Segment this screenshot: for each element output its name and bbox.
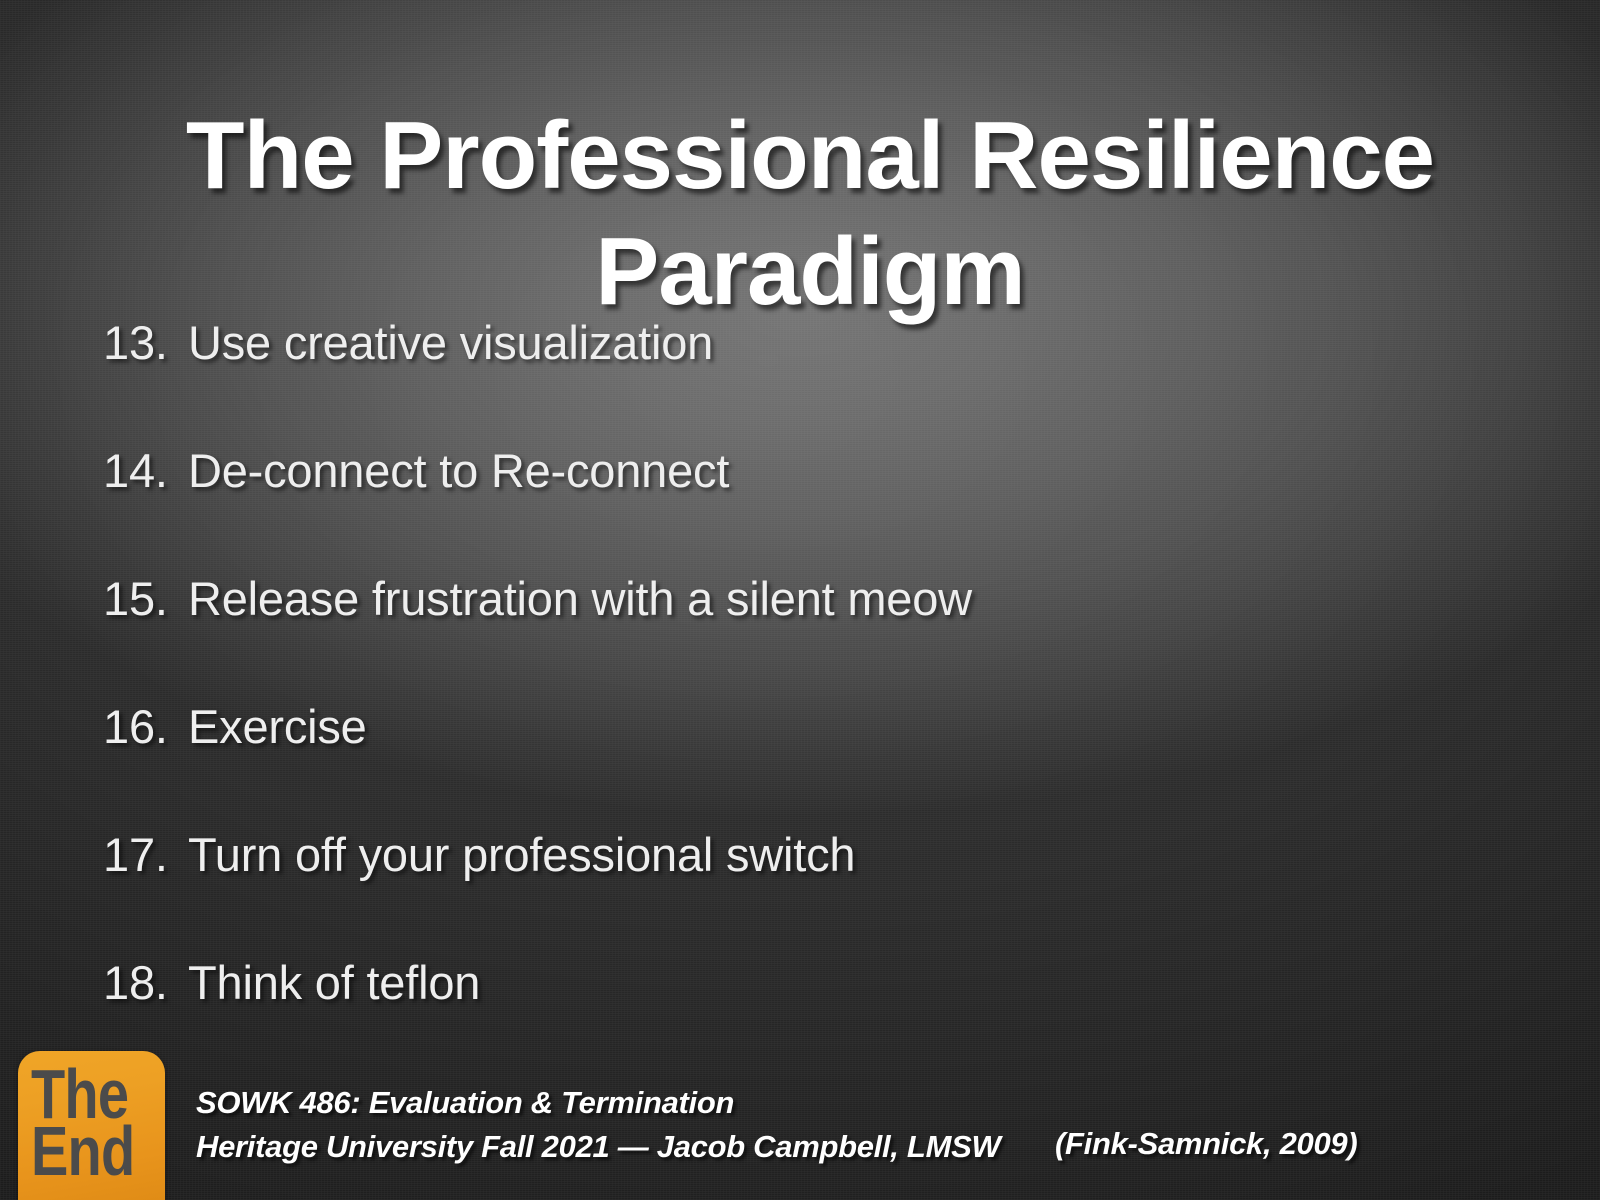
the-end-logo: The End (18, 1051, 165, 1200)
list-item-number: 15. (103, 574, 188, 623)
the-end-logo-label: The End (31, 1066, 134, 1181)
list-item-number: 13. (103, 318, 188, 367)
footer-citation: (Fink-Samnick, 2009) (1055, 1126, 1357, 1162)
list-item: 13. Use creative visualization (103, 318, 1523, 446)
list-item-number: 14. (103, 446, 188, 495)
list-item-label: Think of teflon (188, 958, 480, 1007)
footer-course-line-1: SOWK 486: Evaluation & Termination (196, 1081, 1000, 1125)
list-item-number: 17. (103, 830, 188, 879)
slide-title: The Professional Resilience Paradigm (110, 98, 1510, 328)
list-item: 14. De-connect to Re-connect (103, 446, 1523, 574)
numbered-list: 13. Use creative visualization 14. De-co… (103, 318, 1523, 1086)
presentation-slide: The Professional Resilience Paradigm 13.… (0, 0, 1600, 1200)
list-item: 15. Release frustration with a silent me… (103, 574, 1523, 702)
list-item-number: 16. (103, 702, 188, 751)
list-item-label: Exercise (188, 702, 367, 751)
list-item: 18. Think of teflon (103, 958, 1523, 1086)
list-item-number: 18. (103, 958, 188, 1007)
list-item-label: Use creative visualization (188, 318, 713, 367)
footer-course-line-2: Heritage University Fall 2021 — Jacob Ca… (196, 1125, 1000, 1169)
list-item-label: Release frustration with a silent meow (188, 574, 972, 623)
list-item: 16. Exercise (103, 702, 1523, 830)
list-item-label: De-connect to Re-connect (188, 446, 729, 495)
footer-course-info: SOWK 486: Evaluation & Termination Herit… (196, 1081, 1000, 1169)
list-item-label: Turn off your professional switch (188, 830, 855, 879)
list-item: 17. Turn off your professional switch (103, 830, 1523, 958)
